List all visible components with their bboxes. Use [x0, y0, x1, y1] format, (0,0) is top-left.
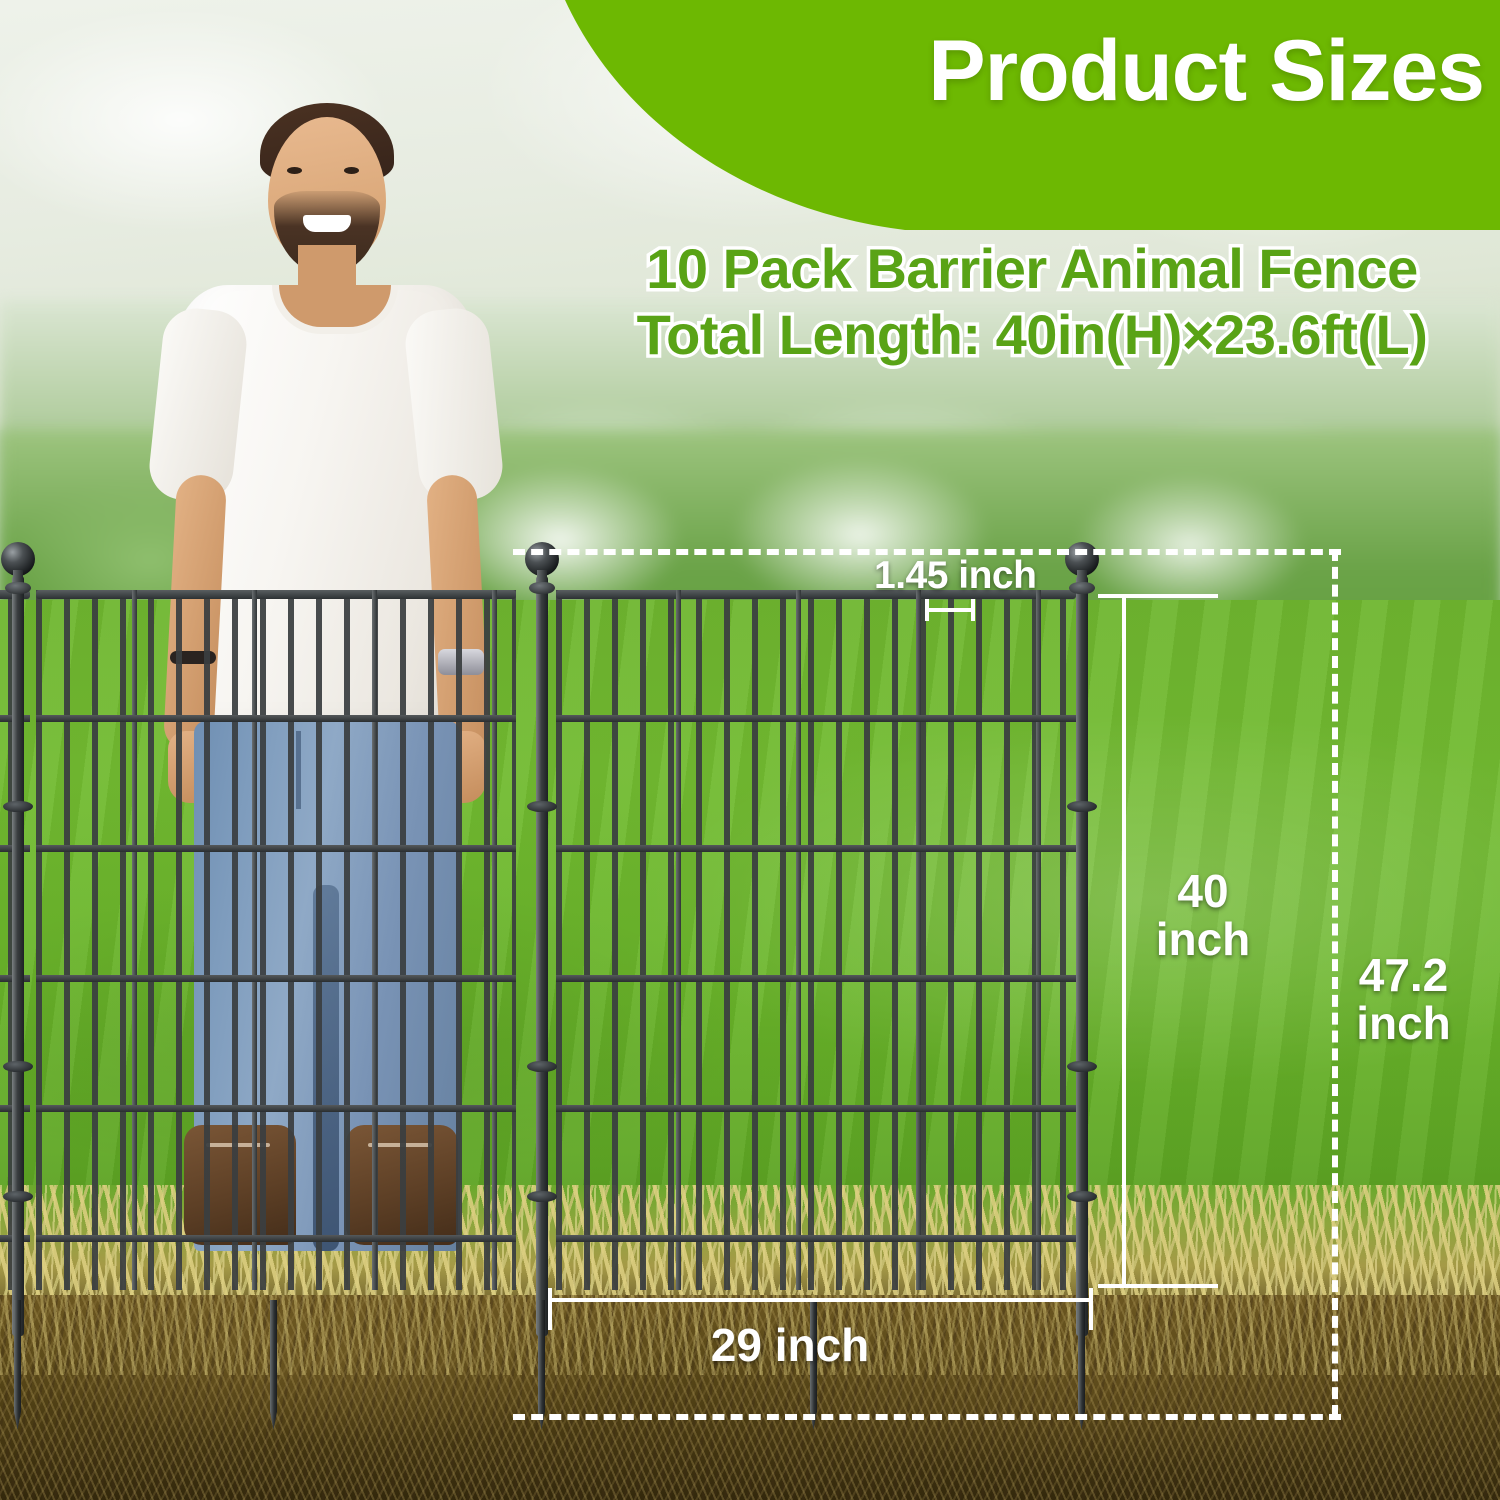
fence-post: [536, 576, 548, 1336]
product-subtitle: 10 Pack Barrier Animal Fence Total Lengt…: [582, 236, 1482, 367]
fence-panel: [36, 590, 516, 1290]
dimension-label-gap-spacing: 1.45 inch: [874, 556, 1036, 597]
post-clip: [3, 1061, 33, 1072]
panel-rail: [36, 715, 516, 722]
dimension-line-40inch: [1122, 596, 1126, 1286]
ground-stake: [270, 1300, 277, 1430]
dimension-tick-40-top: [1098, 594, 1218, 598]
ground-stake: [14, 1300, 21, 1430]
post-clip: [3, 1191, 33, 1202]
panel-mid-post: [1036, 590, 1041, 1290]
panel-mid-post: [796, 590, 801, 1290]
post-clip: [1067, 1191, 1097, 1202]
panel-mid-post: [252, 590, 257, 1290]
dimension-line-29inch: [548, 1298, 1093, 1302]
panel-rail: [36, 1105, 516, 1112]
post-cap: [1069, 582, 1095, 594]
subtitle-line-1: 10 Pack Barrier Animal Fence: [582, 236, 1482, 302]
fence-post: [1076, 576, 1088, 1336]
panel-rail: [36, 845, 516, 852]
dimension-label-47-2-inch: 47.2 inch: [1336, 952, 1471, 1048]
fence-assembly: [0, 540, 1500, 1330]
ground-stake: [1078, 1300, 1085, 1430]
page-title: Product Sizes: [928, 28, 1484, 114]
post-cap: [529, 582, 555, 594]
panel-mid-post: [132, 590, 137, 1290]
panel-rail: [556, 1105, 1076, 1112]
panel-mid-post: [372, 590, 377, 1290]
panel-rail: [556, 975, 1076, 982]
mouth: [303, 215, 351, 232]
panel-rail: [556, 1235, 1076, 1242]
post-clip: [1067, 1061, 1097, 1072]
post-cap: [5, 582, 31, 594]
post-clip: [527, 1191, 557, 1202]
subtitle-line-2: Total Length: 40in(H)×23.6ft(L): [582, 302, 1482, 368]
post-clip: [527, 1061, 557, 1072]
panel-rail: [36, 975, 516, 982]
dimension-label-40-inch: 40 inch: [1143, 868, 1263, 964]
post-clip: [3, 801, 33, 812]
ground-stake: [538, 1300, 545, 1430]
fence-post: [12, 576, 24, 1336]
dimension-line-bottom-dashed: [513, 1414, 1341, 1420]
panel-top-rail: [36, 590, 516, 599]
dimension-label-29-inch: 29 inch: [711, 1322, 870, 1370]
panel-rail: [36, 1235, 516, 1242]
dimension-tick-29-right: [1089, 1288, 1093, 1330]
panel-rail: [556, 845, 1076, 852]
panel-mid-post: [492, 590, 497, 1290]
product-size-infographic: 1.45 inch 40 inch 47.2 inch 29 inch Prod…: [0, 0, 1500, 1500]
eye-left: [287, 167, 302, 174]
dimension-tick-40-bottom: [1098, 1284, 1218, 1288]
eye-right: [344, 167, 359, 174]
panel-mid-post: [916, 590, 921, 1290]
panel-mid-post: [676, 590, 681, 1290]
fence-panel: [556, 590, 1076, 1290]
post-clip: [527, 801, 557, 812]
dimension-tick-29-left: [548, 1288, 552, 1330]
dimension-bar-145inch: [925, 608, 975, 612]
panel-rail: [556, 715, 1076, 722]
post-clip: [1067, 801, 1097, 812]
